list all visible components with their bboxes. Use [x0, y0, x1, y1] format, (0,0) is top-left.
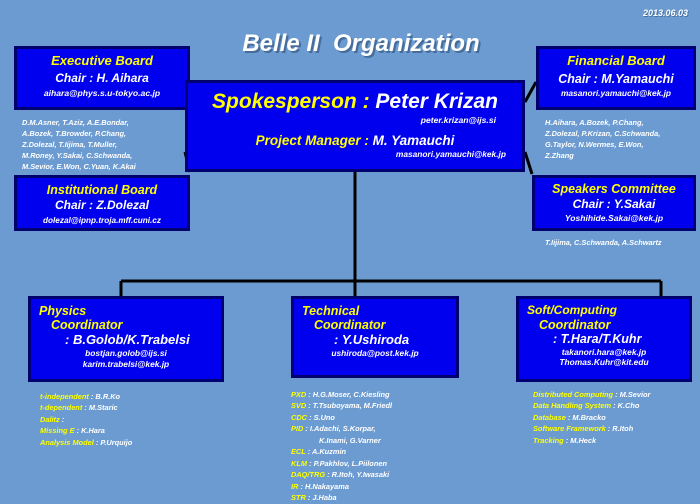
- softcomputing-topic-row: Data Handling System : K.Cho: [533, 400, 650, 411]
- softcomputing-topic-row-key: Distributed Computing: [533, 390, 615, 399]
- softcomputing-topic-row-value: : K.Cho: [613, 401, 639, 410]
- technical-subsystem-row-key: CDC: [291, 413, 309, 422]
- technical-subsystem-row: DAQ/TRG : R.Itoh, Y.Iwasaki: [291, 469, 392, 480]
- project-manager-email[interactable]: masanori.yamauchi@kek.jp: [200, 150, 510, 160]
- project-manager-name: M. Yamauchi: [373, 133, 455, 148]
- executive-board-members: D.M.Asner, T.Aziz, A.E.Bondar, A.Bozek, …: [22, 117, 202, 173]
- physics-topic-row-key: Analysis Model: [40, 438, 96, 447]
- financial-board-box[interactable]: Financial Board Chair : M.Yamauchi masan…: [536, 46, 696, 110]
- technical-subsystem-row-value: : A.Kuzmin: [308, 447, 346, 456]
- physics-topic-row: t-independent : B.R.Ko: [40, 391, 132, 402]
- physics-topic-row-value: : K.Hara: [77, 426, 105, 435]
- softcomputing-coordinator-email-2[interactable]: Thomas.Kuhr@kit.edu: [527, 357, 681, 368]
- physics-topic-row-key: t-dependent: [40, 403, 84, 412]
- technical-subsystem-row-key: SVD: [291, 401, 308, 410]
- technical-subsystem-list: PXD : H.G.Moser, C.KieslingSVD : T.Tsubo…: [291, 389, 392, 504]
- technical-coordinator-line1: Technical: [302, 304, 448, 318]
- technical-subsystem-row-key: PID: [291, 424, 305, 433]
- technical-subsystem-row: PXD : H.G.Moser, C.Kiesling: [291, 389, 392, 400]
- physics-topic-row-value: : M.Staric: [84, 403, 117, 412]
- technical-subsystem-row-key: PXD: [291, 390, 308, 399]
- technical-coordinator-box[interactable]: Technical Coordinator : Y.Ushiroda ushir…: [291, 296, 459, 378]
- softcomputing-topic-row-key: Data Handling System: [533, 401, 613, 410]
- physics-topic-row: Analysis Model : P.Urquijo: [40, 437, 132, 448]
- physics-coordinator-email-1[interactable]: bostjan.golob@ijs.si: [39, 348, 213, 359]
- technical-subsystem-row-value: : R.Itoh, Y.Iwasaki: [327, 470, 389, 479]
- financial-board-members: H.Aihara, A.Bozek, P.Chang, Z.Dolezal, P…: [545, 117, 700, 161]
- spokesperson-box[interactable]: Spokesperson : Peter Krizan peter.krizan…: [185, 80, 525, 172]
- executive-board-chair: Chair : H. Aihara: [17, 72, 187, 86]
- speakers-committee-header: Speakers Committee: [535, 182, 693, 196]
- softcomputing-coordinator-names: : T.Hara/T.Kuhr: [527, 332, 681, 346]
- technical-subsystem-row: SVD : T.Tsuboyama, M.Friedl: [291, 400, 392, 411]
- speakers-committee-chair: Chair : Y.Sakai: [535, 198, 693, 212]
- physics-topic-row: t-dependent : M.Staric: [40, 402, 132, 413]
- softcomputing-topic-row: Distributed Computing : M.Sevior: [533, 389, 650, 400]
- physics-topic-row-value: : P.Urquijo: [96, 438, 132, 447]
- softcomputing-coordinator-box[interactable]: Soft/Computing Coordinator : T.Hara/T.Ku…: [516, 296, 692, 382]
- physics-topic-row: Dalitz :: [40, 414, 132, 425]
- softcomputing-topic-row: Database : M.Bracko: [533, 412, 650, 423]
- institutional-board-email[interactable]: dolezal@ipnp.troja.mff.cuni.cz: [17, 216, 187, 225]
- project-manager-title-line: Project Manager : M. Yamauchi: [200, 133, 510, 149]
- technical-subsystem-row: KLM : P.Pakhlov, L.Piilonen: [291, 458, 392, 469]
- speakers-committee-box[interactable]: Speakers Committee Chair : Y.Sakai Yoshi…: [532, 175, 696, 231]
- physics-coordinator-box[interactable]: Physics Coordinator : B.Golob/K.Trabelsi…: [28, 296, 224, 382]
- institutional-board-box[interactable]: Institutional Board Chair : Z.Dolezal do…: [14, 175, 190, 231]
- technical-subsystem-row: IR : H.Nakayama: [291, 481, 392, 492]
- spokesperson-role-label: Spokesperson :: [212, 90, 375, 113]
- softcomputing-topic-row: Software Framework : R.Itoh: [533, 423, 650, 434]
- softcomputing-topic-row-value: : M.Heck: [566, 436, 596, 445]
- physics-coordinator-names: : B.Golob/K.Trabelsi: [39, 333, 213, 348]
- softcomputing-topic-row: Tracking : M.Heck: [533, 435, 650, 446]
- technical-coordinator-email-1[interactable]: ushiroda@post.kek.jp: [302, 348, 448, 359]
- softcomputing-coordinator-email-1[interactable]: takanori.hara@kek.jp: [527, 347, 681, 358]
- physics-coordinator-line2: Coordinator: [39, 318, 213, 332]
- speakers-committee-email[interactable]: Yoshihide.Sakai@kek.jp: [535, 214, 693, 224]
- date-stamp: 2013.06.03: [643, 8, 688, 18]
- physics-topic-row-value: :: [62, 415, 64, 424]
- technical-subsystem-row-value-continued: K.Inami, G.Varner: [291, 435, 381, 446]
- executive-board-box[interactable]: Executive Board Chair : H. Aihara aihara…: [14, 46, 190, 110]
- spokesperson-email[interactable]: peter.krizan@ijs.si: [200, 116, 510, 126]
- softcomputing-coordinator-line1: Soft/Computing: [527, 304, 681, 318]
- physics-topic-row-key: Missing E: [40, 426, 77, 435]
- technical-subsystem-row: ECL : A.Kuzmin: [291, 446, 392, 457]
- softcomputing-topic-row-key: Tracking: [533, 436, 566, 445]
- page-title: Belle II Organization: [196, 30, 526, 58]
- technical-subsystem-row-value: : H.Nakayama: [300, 482, 348, 491]
- softcomputing-topic-list: Distributed Computing : M.SeviorData Han…: [533, 389, 650, 446]
- physics-topic-row-value: : B.R.Ko: [91, 392, 120, 401]
- financial-board-header: Financial Board: [539, 54, 693, 69]
- technical-subsystem-row-key: ECL: [291, 447, 308, 456]
- softcomputing-topic-row-key: Database: [533, 413, 568, 422]
- technical-subsystem-row: STR : J.Haba: [291, 492, 392, 503]
- softcomputing-topic-row-key: Software Framework: [533, 424, 608, 433]
- project-manager-role-label: Project Manager :: [256, 133, 373, 148]
- financial-board-chair: Chair : M.Yamauchi: [539, 72, 693, 86]
- physics-coordinator-email-2[interactable]: karim.trabelsi@kek.jp: [39, 359, 213, 370]
- technical-subsystem-row-value: : T.Tsuboyama, M.Friedl: [308, 401, 392, 410]
- physics-topic-list: t-independent : B.R.Kot-dependent : M.St…: [40, 391, 132, 448]
- financial-board-email[interactable]: masanori.yamauchi@kek.jp: [539, 89, 693, 99]
- technical-subsystem-row-key: KLM: [291, 459, 309, 468]
- technical-subsystem-row-value: : S.Uno: [309, 413, 335, 422]
- physics-topic-row-key: Dalitz: [40, 415, 62, 424]
- technical-coordinator-names: : Y.Ushiroda: [302, 333, 448, 348]
- physics-coordinator-line1: Physics: [39, 304, 213, 318]
- technical-subsystem-row-value: : H.G.Moser, C.Kiesling: [308, 390, 389, 399]
- technical-subsystem-row-key: DAQ/TRG: [291, 470, 327, 479]
- spokesperson-name: Peter Krizan: [375, 90, 498, 113]
- softcomputing-coordinator-line2: Coordinator: [527, 318, 681, 332]
- technical-subsystem-row: CDC : S.Uno: [291, 412, 392, 423]
- executive-board-header: Executive Board: [17, 54, 187, 69]
- physics-topic-row: Missing E : K.Hara: [40, 425, 132, 436]
- softcomputing-topic-row-value: : R.Itoh: [608, 424, 633, 433]
- institutional-board-chair: Chair : Z.Dolezal: [17, 199, 187, 213]
- wire-speakers-to-spokesperson: [525, 152, 532, 174]
- technical-subsystem-row: PID : I.Adachi, S.Korpar,: [291, 423, 392, 434]
- technical-coordinator-line2: Coordinator: [302, 318, 448, 332]
- technical-subsystem-row-value: : P.Pakhlov, L.Piilonen: [309, 459, 387, 468]
- org-chart-canvas: Belle II Organization 2013.06.03 Executi…: [0, 0, 700, 501]
- spokesperson-title-line: Spokesperson : Peter Krizan: [200, 90, 510, 114]
- softcomputing-topic-row-value: : M.Sevior: [615, 390, 650, 399]
- institutional-board-header: Institutional Board: [17, 183, 187, 197]
- speakers-committee-members: T.Iijima, C.Schwanda, A.Schwartz: [545, 237, 700, 248]
- wire-financial-to-spokesperson: [525, 82, 536, 102]
- technical-subsystem-row-value: : I.Adachi, S.Korpar,: [305, 424, 375, 433]
- softcomputing-topic-row-value: : M.Bracko: [568, 413, 606, 422]
- physics-topic-row-key: t-independent: [40, 392, 91, 401]
- executive-board-email[interactable]: aihara@phys.s.u-tokyo.ac.jp: [17, 89, 187, 99]
